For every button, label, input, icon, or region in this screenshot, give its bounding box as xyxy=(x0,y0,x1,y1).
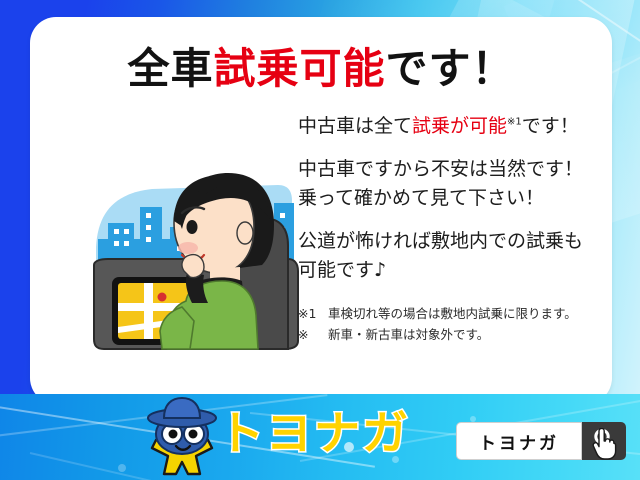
footnote-marker: ※1 xyxy=(298,304,328,325)
footnote-item: ※新車・新古車は対象外です。 xyxy=(298,325,608,346)
brand-logo-text: トヨナガ xyxy=(218,397,410,463)
body-line-1-seg-1: 中古車は全て xyxy=(298,115,412,137)
body-line-3: 乗って確かめて見て下さい！ xyxy=(298,184,608,213)
title-part-highlight: 試乗可能 xyxy=(213,44,385,93)
hand-pointer-icon xyxy=(592,428,618,464)
brand-footer-bar: トヨナガ トヨナガ xyxy=(0,394,640,480)
ad-banner-root: 全車試乗可能です！ xyxy=(0,0,640,480)
body-line-1-footnote-marker: ※1 xyxy=(507,117,522,128)
title-part-before: 全車 xyxy=(127,44,213,93)
search-widget[interactable]: トヨナガ xyxy=(456,422,626,460)
footnote-text: 新車・新古車は対象外です。 xyxy=(328,327,489,342)
footnote-item: ※1車検切れ等の場合は敷地内試乗に限ります。 xyxy=(298,304,608,325)
title-part-after: です！ xyxy=(386,44,515,93)
body-line-5: 可能です♪ xyxy=(298,256,608,285)
body-line-4: 公道が怖ければ敷地内での試乗も xyxy=(298,227,608,256)
person-driving-car-illustration xyxy=(82,151,307,361)
footnote-marker: ※ xyxy=(298,325,328,346)
footnote-text: 車検切れ等の場合は敷地内試乗に限ります。 xyxy=(328,306,577,321)
toyonaga-mascot xyxy=(136,396,228,480)
content-card: 全車試乗可能です！ xyxy=(30,17,612,404)
footer-dot-4 xyxy=(118,464,126,472)
body-copy: 中古車は全て試乗が可能※1です！ 中古車ですから不安は当然です！ 乗って確かめて… xyxy=(298,112,608,346)
body-line-1: 中古車は全て試乗が可能※1です！ xyxy=(298,112,608,141)
body-line-1-seg-2: 試乗が可能 xyxy=(412,115,507,137)
page-title: 全車試乗可能です！ xyxy=(30,35,612,96)
search-input[interactable]: トヨナガ xyxy=(456,422,582,460)
footnote-list: ※1車検切れ等の場合は敷地内試乗に限ります。 ※新車・新古車は対象外です。 xyxy=(298,304,608,345)
body-line-1-seg-4: です！ xyxy=(522,115,579,137)
body-line-2: 中古車ですから不安は当然です！ xyxy=(298,155,608,184)
